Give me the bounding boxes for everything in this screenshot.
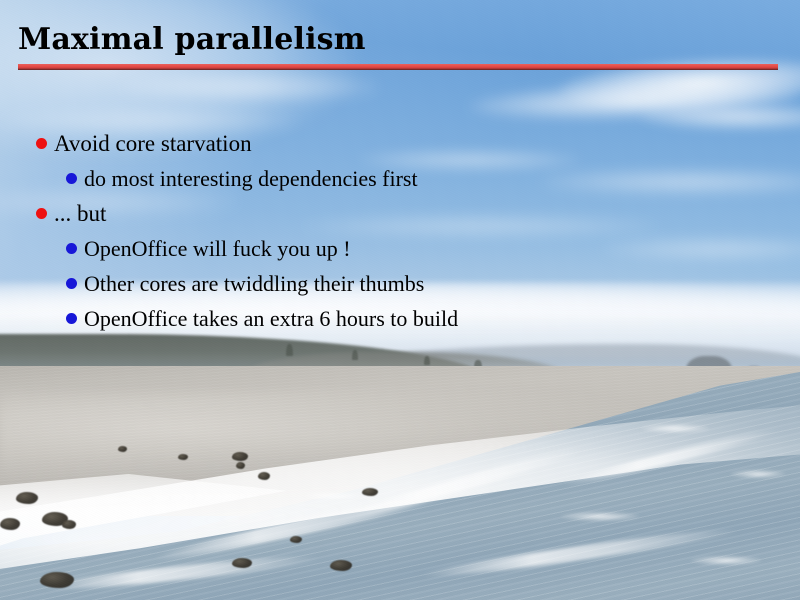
cloud-streak xyxy=(120,72,380,102)
bullet-item: Other cores are twiddling their thumbs xyxy=(0,266,800,301)
slide-bullet-list: Avoid core starvation do most interestin… xyxy=(0,126,800,336)
water-glint xyxy=(300,492,364,500)
shore-rock xyxy=(258,472,270,480)
shore-rock xyxy=(362,488,378,496)
red-disc-bullet-icon xyxy=(36,138,47,149)
shore-rock xyxy=(290,536,302,543)
bullet-text: ... but xyxy=(54,200,106,227)
shore-rock xyxy=(118,446,127,452)
shore-rock xyxy=(40,572,74,588)
dune-vegetation-tuft xyxy=(352,350,358,360)
blue-disc-bullet-icon xyxy=(66,278,77,289)
presentation-slide: Maximal parallelism Avoid core starvatio… xyxy=(0,0,800,600)
bullet-item: do most interesting dependencies first xyxy=(0,161,800,196)
blue-disc-bullet-icon xyxy=(66,313,77,324)
bullet-text: OpenOffice takes an extra 6 hours to bui… xyxy=(84,305,458,332)
shore-rock xyxy=(62,520,76,529)
water-glint xyxy=(730,470,786,478)
water-glint xyxy=(690,556,762,565)
bullet-text: OpenOffice will fuck you up ! xyxy=(84,235,351,262)
shore-rock xyxy=(178,454,188,460)
red-disc-bullet-icon xyxy=(36,208,47,219)
water-glint xyxy=(560,512,640,521)
dune-vegetation-tuft xyxy=(424,356,430,365)
title-underline-rule xyxy=(18,64,778,70)
shore-rock xyxy=(236,462,245,469)
bullet-text: Other cores are twiddling their thumbs xyxy=(84,270,424,297)
slide-title: Maximal parallelism xyxy=(18,21,366,59)
dune-vegetation-tuft xyxy=(286,344,293,356)
shore-rock xyxy=(232,558,252,568)
bullet-item: OpenOffice will fuck you up ! xyxy=(0,231,800,266)
blue-disc-bullet-icon xyxy=(66,243,77,254)
water-glint xyxy=(640,424,710,433)
shore-rock xyxy=(232,452,248,461)
bullet-text: do most interesting dependencies first xyxy=(84,165,418,192)
shore-rock xyxy=(0,518,20,530)
bullet-item: Avoid core starvation xyxy=(0,126,800,161)
blue-disc-bullet-icon xyxy=(66,173,77,184)
bullet-item: ... but xyxy=(0,196,800,231)
bullet-item: OpenOffice takes an extra 6 hours to bui… xyxy=(0,301,800,336)
shore-rock xyxy=(330,560,352,571)
bullet-text: Avoid core starvation xyxy=(54,130,252,157)
shore-rock xyxy=(16,492,38,504)
